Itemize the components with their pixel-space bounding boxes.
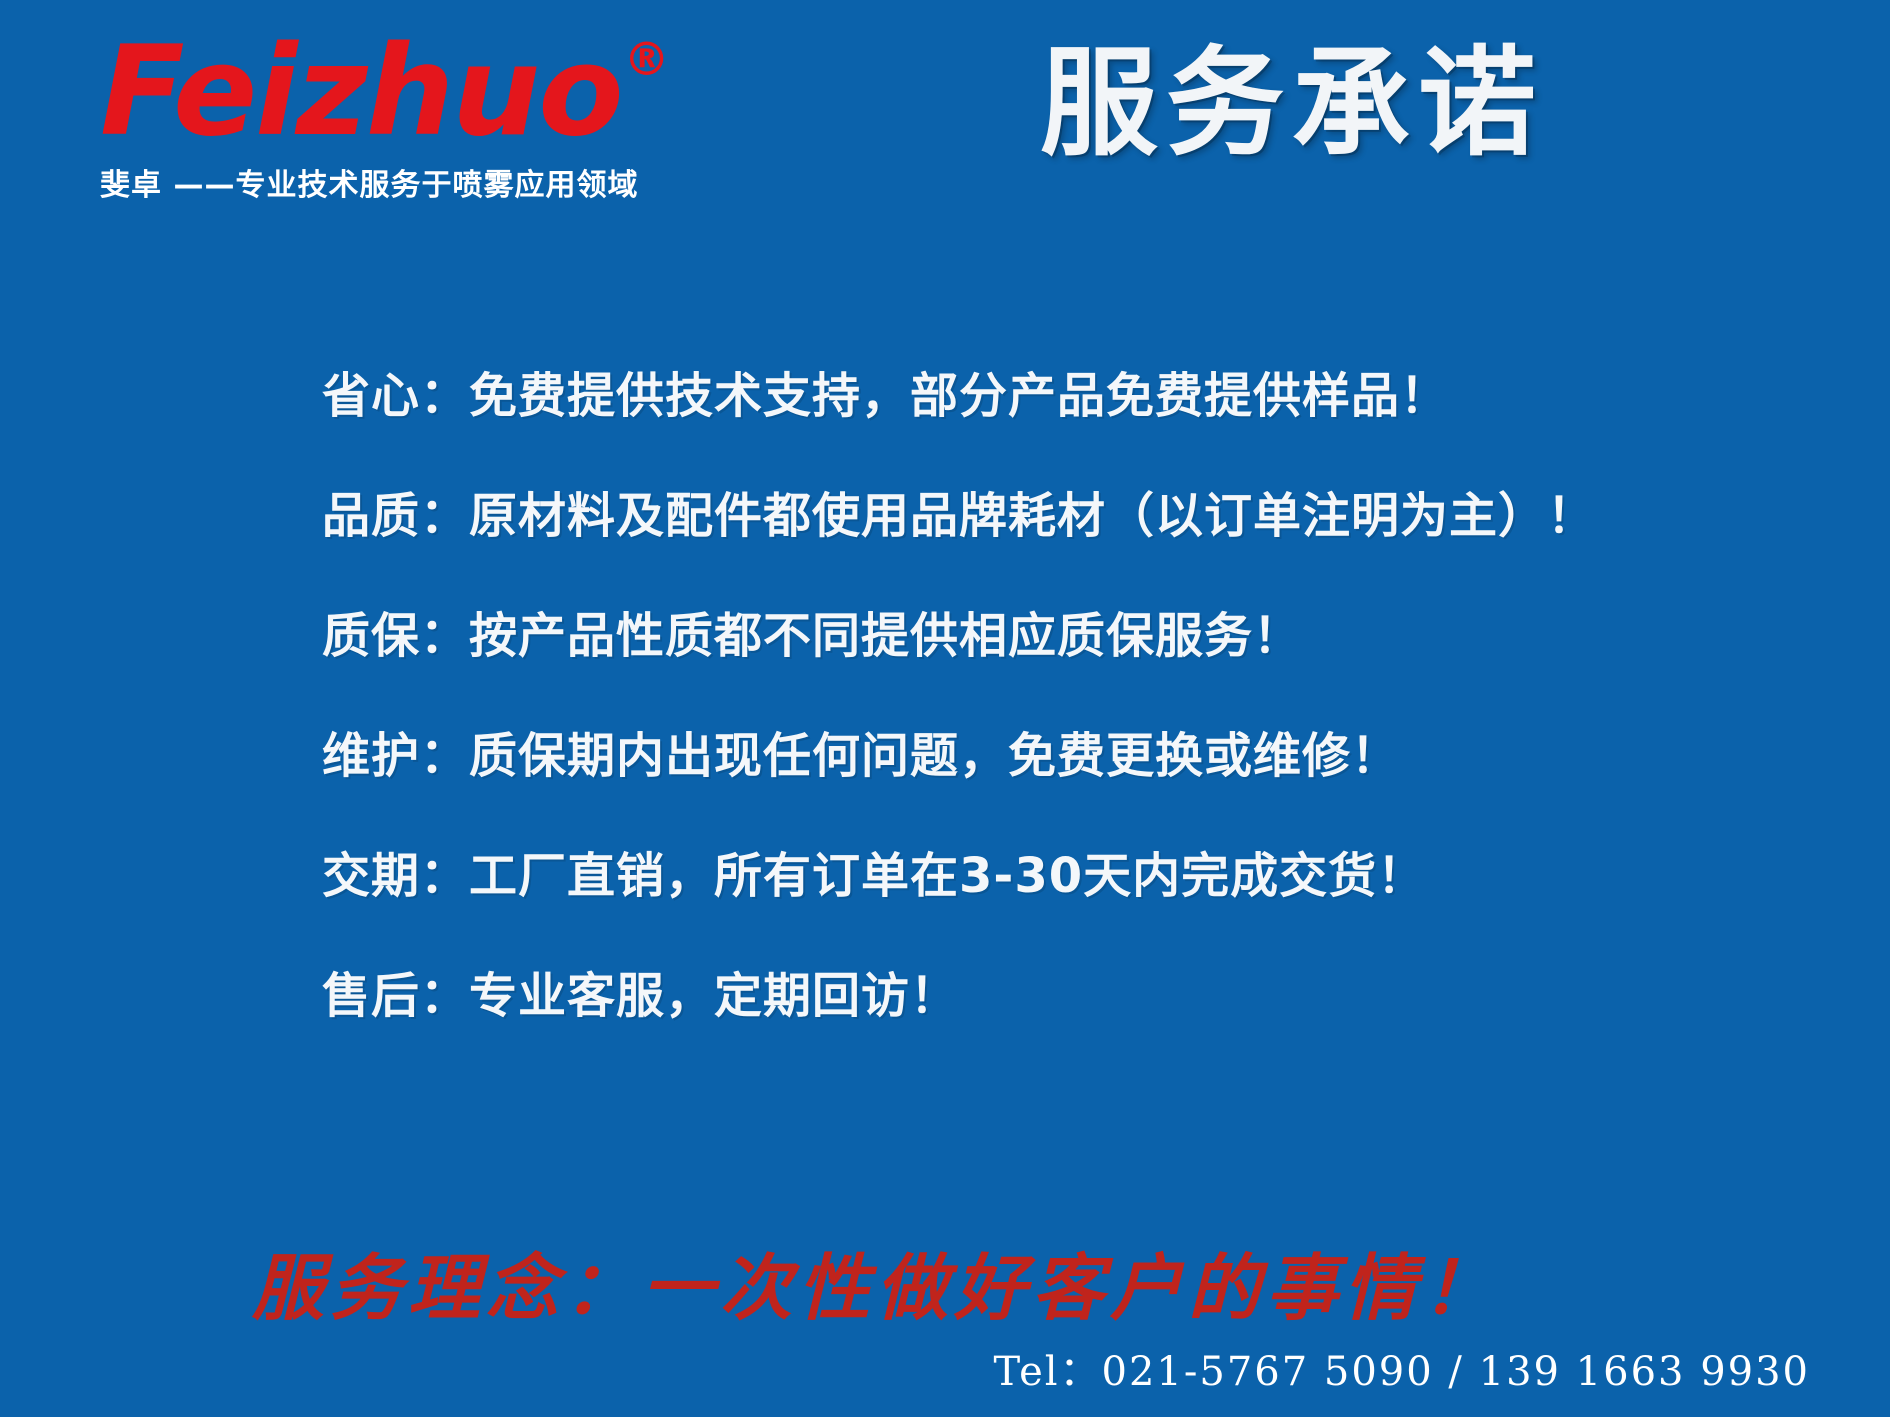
page-title: 服务承诺 [1040,36,1544,172]
promise-item: 品质：原材料及配件都使用品牌耗材（以订单注明为主）！ [322,492,1722,540]
promise-item: 维护：质保期内出现任何问题，免费更换或维修！ [322,732,1722,780]
service-promise-list: 省心：免费提供技术支持，部分产品免费提供样品！ 品质：原材料及配件都使用品牌耗材… [322,372,1722,1020]
poster-canvas: Feizhuo ® 斐卓 ——专业技术服务于喷雾应用领域 服务承诺 省心：免费提… [0,0,1890,1417]
poster-header: Feizhuo ® 斐卓 ——专业技术服务于喷雾应用领域 服务承诺 [0,0,1890,250]
promise-item: 售后：专业客服，定期回访！ [322,972,1722,1020]
logo-wordmark: Feizhuo [100,30,622,154]
company-logo: Feizhuo ® 斐卓 ——专业技术服务于喷雾应用领域 [100,30,760,204]
registered-trademark-icon: ® [624,32,670,86]
company-tagline: 斐卓 ——专业技术服务于喷雾应用领域 [100,160,760,204]
logo-wordmark-wrap: Feizhuo ® [100,30,622,154]
contact-phone: Tel：021-5767 5090 / 139 1663 9930 [994,1352,1811,1392]
promise-item: 质保：按产品性质都不同提供相应质保服务！ [322,612,1722,660]
service-slogan: 服务理念：一次性做好客户的事情！ [252,1252,1500,1324]
promise-item: 省心：免费提供技术支持，部分产品免费提供样品！ [322,372,1722,420]
promise-item: 交期：工厂直销，所有订单在3-30天内完成交货！ [322,852,1722,900]
